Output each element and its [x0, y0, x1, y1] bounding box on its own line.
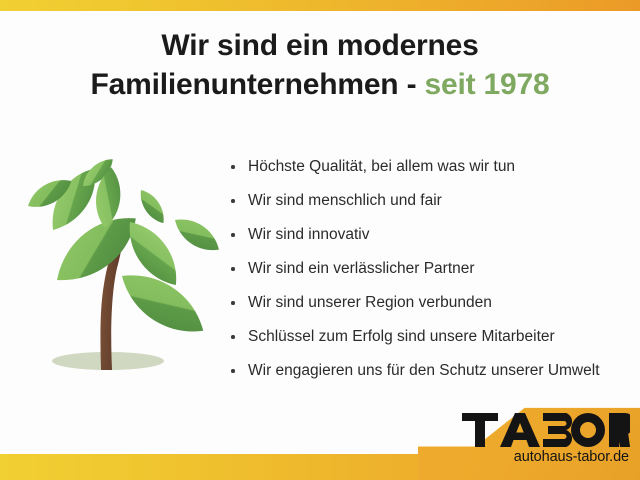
list-item-label: Schlüssel zum Erfolg sind unsere Mitarbe…: [248, 328, 555, 345]
logo-tagline: autohaus-tabor.de: [418, 449, 629, 465]
list-item-label: Wir engagieren uns für den Schutz unsere…: [248, 362, 600, 379]
list-item-label: Wir sind ein verlässlicher Partner: [248, 260, 475, 277]
value-list: Höchste Qualität, bei allem was wir tun …: [228, 150, 638, 388]
top-accent-bar: [0, 0, 640, 11]
list-item: Wir engagieren uns für den Schutz unsere…: [228, 354, 638, 388]
list-item: Wir sind ein verlässlicher Partner: [228, 252, 638, 286]
tree-leaf: [135, 186, 170, 228]
list-item: Wir sind innovativ: [228, 218, 638, 252]
tree-illustration: [12, 158, 222, 390]
page-title: Wir sind ein modernes Familienunternehme…: [0, 26, 640, 104]
headline-accent-year: seit 1978: [425, 68, 550, 101]
brand-logo[interactable]: autohaus-tabor.de: [418, 392, 640, 480]
headline-line-2-plain: Familienunternehmen -: [91, 68, 425, 101]
list-item-label: Wir sind innovativ: [248, 226, 369, 243]
bullet-dot-icon: [231, 369, 235, 373]
list-item: Wir sind menschlich und fair: [228, 184, 638, 218]
logo-wordmark: [418, 413, 630, 449]
bullet-dot-icon: [231, 267, 235, 271]
headline-line-2: Familienunternehmen - seit 1978: [0, 65, 640, 104]
tree-leaf: [169, 211, 222, 258]
slide-canvas: Wir sind ein modernes Familienunternehme…: [0, 0, 640, 480]
list-item-label: Wir sind unserer Region verbunden: [248, 294, 492, 311]
bullet-dot-icon: [231, 301, 235, 305]
headline-line-1: Wir sind ein modernes: [0, 26, 640, 65]
bullet-dot-icon: [231, 335, 235, 339]
list-item: Höchste Qualität, bei allem was wir tun: [228, 150, 638, 184]
bullet-dot-icon: [231, 165, 235, 169]
list-item: Schlüssel zum Erfolg sind unsere Mitarbe…: [228, 320, 638, 354]
list-item-label: Wir sind menschlich und fair: [248, 192, 442, 209]
list-item-label: Höchste Qualität, bei allem was wir tun: [248, 158, 515, 175]
list-item: Wir sind unserer Region verbunden: [228, 286, 638, 320]
bullet-dot-icon: [231, 199, 235, 203]
bullet-dot-icon: [231, 233, 235, 237]
